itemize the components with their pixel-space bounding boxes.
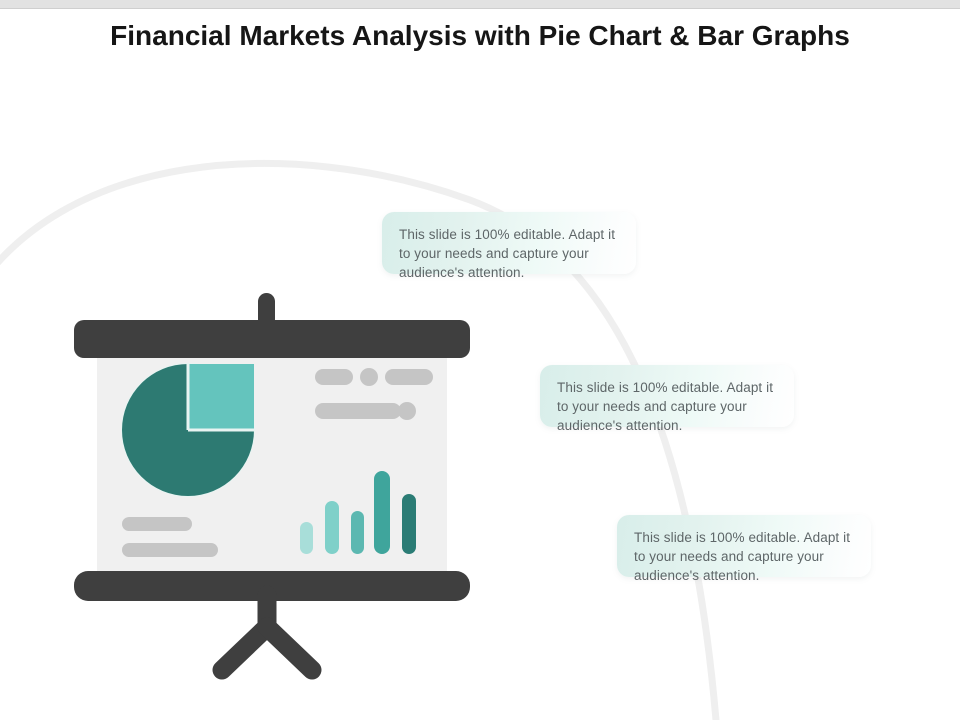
placeholder-pill-3 (315, 403, 401, 419)
callout-text-1: This slide is 100% editable. Adapt it to… (399, 225, 620, 282)
presentation-board-icon (60, 285, 480, 685)
stand-leg-right (267, 627, 312, 670)
bar-3 (351, 511, 364, 554)
placeholder-dot-2 (398, 402, 416, 420)
placeholder-dot-1 (360, 368, 378, 386)
callout-text-2: This slide is 100% editable. Adapt it to… (557, 378, 778, 435)
placeholder-line-short (122, 517, 192, 531)
bar-1 (300, 522, 313, 554)
bar-5 (402, 494, 416, 554)
tripod-stand (222, 595, 312, 670)
top-band-divider (0, 8, 960, 9)
callout-box-1[interactable]: This slide is 100% editable. Adapt it to… (382, 212, 636, 274)
callout-box-2[interactable]: This slide is 100% editable. Adapt it to… (540, 365, 794, 427)
slide-canvas: Financial Markets Analysis with Pie Char… (0, 0, 960, 720)
pie-chart-graphic (121, 363, 255, 497)
callout-text-3: This slide is 100% editable. Adapt it to… (634, 528, 855, 585)
top-band (0, 0, 960, 8)
callout-box-3[interactable]: This slide is 100% editable. Adapt it to… (617, 515, 871, 577)
placeholder-pill-2 (385, 369, 433, 385)
bar-4 (374, 471, 390, 554)
bar-2 (325, 501, 339, 554)
page-title: Financial Markets Analysis with Pie Char… (0, 20, 960, 52)
placeholder-pill-1 (315, 369, 353, 385)
top-roller-bar (74, 320, 470, 358)
placeholder-line-long (122, 543, 218, 557)
